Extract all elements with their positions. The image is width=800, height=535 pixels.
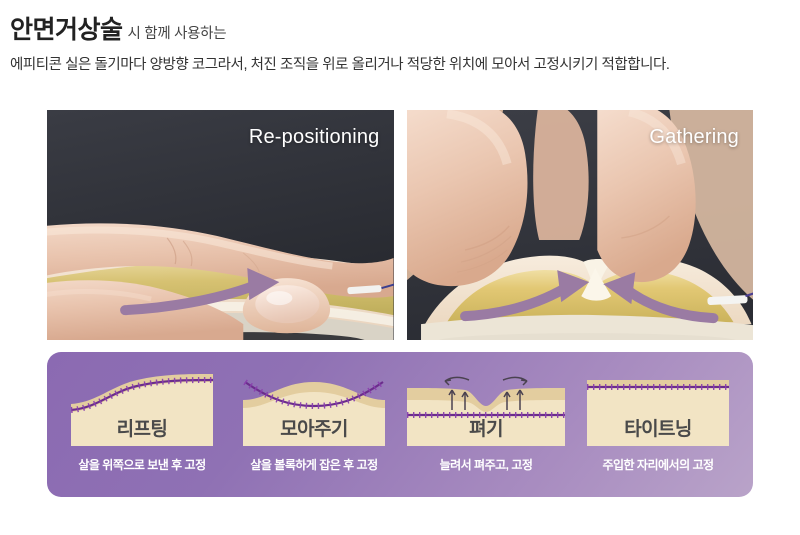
- spread-out-arrows: [445, 377, 527, 385]
- technique-card-lifting: 리프팅 살을 위쪽으로 보낸 후 고정: [63, 366, 221, 473]
- photo-strip: Re-positioning: [47, 110, 753, 340]
- photo-panel-gathering: Gathering: [407, 110, 754, 340]
- headline-strong: 안면거상술: [10, 16, 123, 44]
- flat-tighten-icon: [579, 366, 737, 446]
- headline: 안면거상술시 함께 사용하는: [10, 16, 790, 45]
- headline-light: 시 함께 사용하는: [128, 26, 227, 42]
- technique-caption-lifting: 살을 위쪽으로 보낸 후 고정: [78, 456, 205, 473]
- bulge-gather-icon: [235, 366, 393, 446]
- photo-label-repositioning: Re-positioning: [249, 126, 380, 149]
- s-curve-lift-icon: [63, 366, 221, 446]
- technique-card-spreading: 펴기 늘려서 펴주고, 고정: [407, 366, 565, 473]
- photo-label-gathering: Gathering: [649, 126, 739, 149]
- technique-caption-tightening: 주입한 자리에서의 고정: [602, 456, 713, 473]
- technique-card-tightening: 타이트닝 주입한 자리에서의 고정: [579, 366, 737, 473]
- technique-figure-lifting: 리프팅: [63, 366, 221, 446]
- technique-caption-gathering: 살을 볼록하게 잡은 후 고정: [250, 456, 377, 473]
- technique-caption-spreading: 늘려서 펴주고, 고정: [440, 456, 533, 473]
- photo-panel-repositioning: Re-positioning: [47, 110, 394, 340]
- technique-figure-spreading: 펴기: [407, 366, 565, 446]
- technique-figure-gathering: 모아주기: [235, 366, 393, 446]
- technique-card-gathering: 모아주기 살을 볼록하게 잡은 후 고정: [235, 366, 393, 473]
- page-header: 안면거상술시 함께 사용하는 에피티콘 실은 돌기마다 양방향 코그라서, 처진…: [10, 16, 790, 74]
- page-subtitle: 에피티콘 실은 돌기마다 양방향 코그라서, 처진 조직을 위로 올리거나 적당…: [10, 53, 790, 74]
- depression-spread-icon: [407, 366, 565, 446]
- technique-diagram-panel: 리프팅 살을 위쪽으로 보낸 후 고정 모아주기: [47, 352, 753, 497]
- technique-figure-tightening: 타이트닝: [579, 366, 737, 446]
